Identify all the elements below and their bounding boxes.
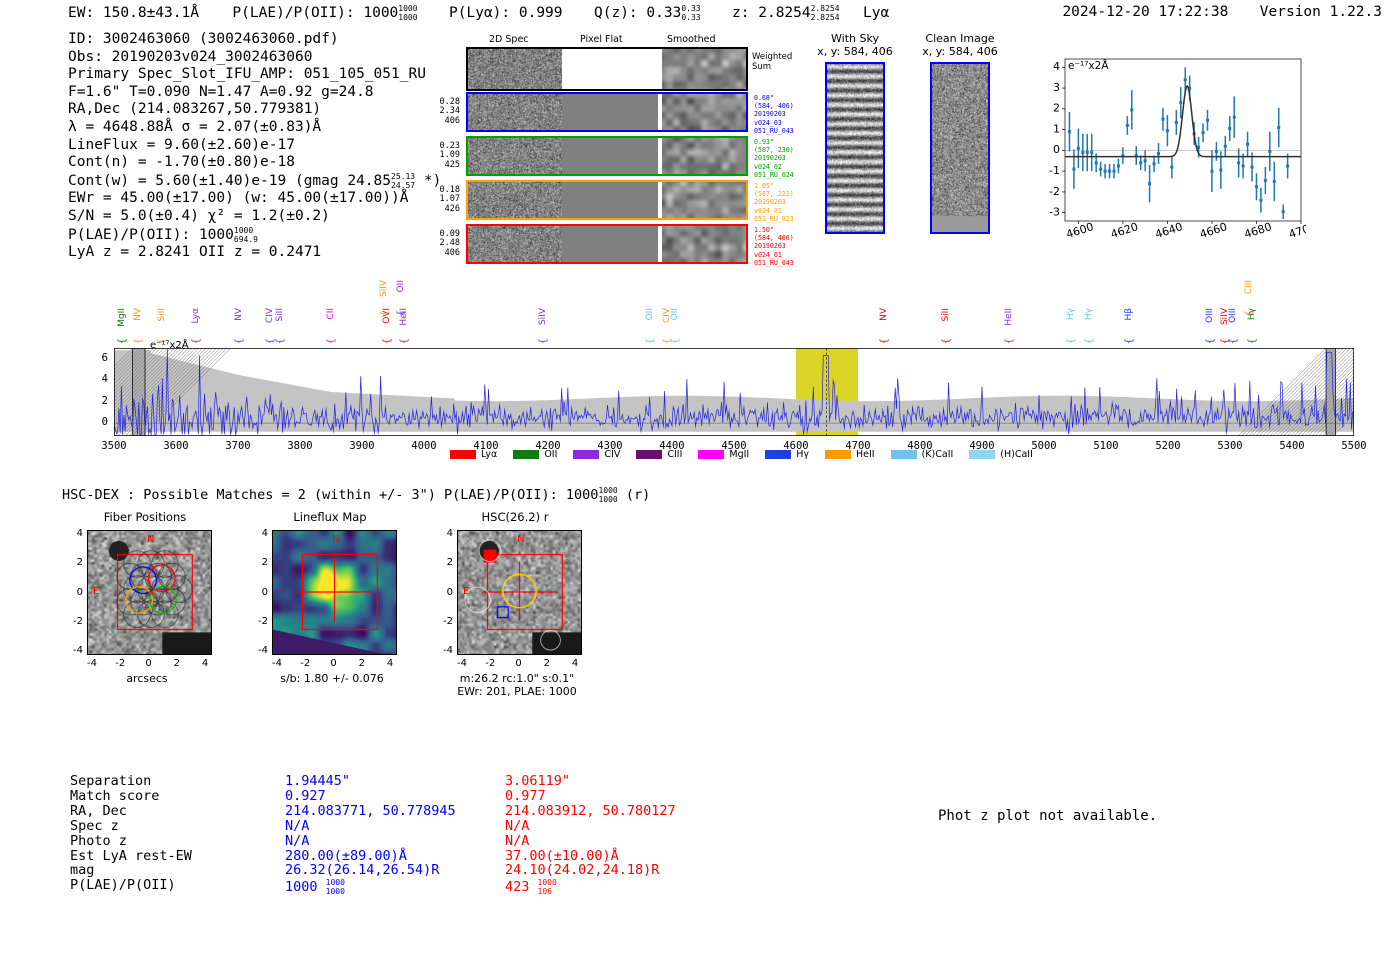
- strip-smoothed: [662, 226, 746, 262]
- spectrum-x-tick: 5300: [1213, 440, 1247, 452]
- match-row-label: Photo z: [70, 834, 127, 849]
- match-value: 214.083771, 50.778945: [285, 804, 456, 819]
- cutout-y-tick: 2: [435, 557, 453, 568]
- legend-label: MgII: [729, 449, 749, 460]
- spectrum-y-tick: 0: [80, 416, 108, 428]
- strip-weighted-sum-2dspec: [468, 49, 562, 89]
- emission-line-brace: {: [879, 338, 890, 344]
- match-value: 0.927: [285, 789, 326, 804]
- detection-info-block: ID: 3002463060 (3002463060.pdf) Obs: 201…: [68, 31, 441, 262]
- legend-swatch: [636, 450, 662, 459]
- cutout-x-tick: 4: [381, 658, 399, 669]
- header-line-id: Lyα: [863, 5, 889, 21]
- emission-line-label: NV: [234, 308, 244, 321]
- cutout-y-tick: -4: [435, 645, 453, 656]
- info-sn-chi2: S/N = 5.0(±0.4) χ² = 1.2(±0.2): [68, 208, 441, 226]
- strip-metric-value: 406: [430, 249, 460, 258]
- match-value: 1.94445": [285, 774, 350, 789]
- spectrum-y-tick: 4: [80, 373, 108, 385]
- emission-line-label: SiIV: [379, 280, 389, 297]
- with-sky-title: With Sky: [805, 32, 905, 45]
- emission-line-label: Lyα: [191, 308, 201, 323]
- cutout-x-tick: -2: [296, 658, 314, 669]
- cutout-image: [457, 530, 582, 655]
- legend-label: (H)CaII: [1000, 449, 1033, 460]
- weighted-sum-label: Weighted Sum: [752, 52, 792, 72]
- strip-info-line: 20190203: [754, 242, 814, 250]
- header-version: Version 1.22.3: [1260, 4, 1382, 20]
- header-plya: P(Lyα): 0.999: [449, 5, 563, 21]
- legend-item: OII: [513, 449, 557, 460]
- match-row-label: Separation: [70, 774, 151, 789]
- with-sky-coords: x, y: 584, 406: [805, 45, 905, 58]
- emission-line-label: OII: [396, 280, 406, 292]
- match-value: 3.06119": [505, 774, 570, 789]
- cutout-y-tick: 4: [65, 528, 83, 539]
- spectrum-x-tick: 3600: [159, 440, 193, 452]
- match-value: 24.10(24.02,24.18)R: [505, 863, 659, 878]
- strip-pixelflat: [562, 94, 658, 130]
- emission-line-brace: {: [234, 338, 245, 344]
- strip-2dspec: [468, 182, 562, 218]
- spectrum-x-tick: 3500: [97, 440, 131, 452]
- emission-line-brace: {: [379, 310, 390, 316]
- legend-swatch: [698, 450, 724, 459]
- cutout-hsc: HSC(26.2) rNE420-2-4-4-2024m:26.2 rc:1.0…: [435, 510, 615, 725]
- strip-info-line: 051_RU_043: [754, 259, 814, 267]
- spectrum-legend: LyαOIICIVCIIIMgIIHγHeII(K)CaII(H)CaII: [450, 444, 1049, 463]
- strip-info-line: (584, 406): [754, 234, 814, 242]
- info-plae-range: 1000694.9: [234, 226, 258, 244]
- legend-label: HeII: [856, 449, 875, 460]
- match-value: 214.083912, 50.780127: [505, 804, 676, 819]
- hscdex-title: HSC-DEX : Possible Matches = 2 (within +…: [62, 486, 650, 504]
- legend-item: CIV: [573, 449, 620, 460]
- info-wavelength: λ = 4648.88Å σ = 2.07(±0.83)Å: [68, 119, 441, 137]
- emission-line-label: SiII: [157, 308, 167, 322]
- match-row-label: P(LAE)/P(OII): [70, 878, 176, 893]
- emission-line-brace: {: [1205, 338, 1216, 344]
- info-cont-n: Cont(n) = -1.70(±0.80)e-18: [68, 154, 441, 172]
- header-timestamp: 2024-12-20 17:22:38: [1062, 4, 1228, 20]
- strip-title-smoothed: Smoothed: [667, 34, 716, 45]
- legend-swatch: [450, 450, 476, 459]
- emission-line-brace: {: [396, 310, 407, 316]
- cutout-y-tick: -4: [250, 645, 268, 656]
- info-plae: P(LAE)/P(OII): 10001000694.9: [68, 226, 441, 245]
- emission-line-brace: {: [1244, 310, 1255, 316]
- strip-metric-value: 425: [430, 161, 460, 170]
- cutout-y-tick: 4: [250, 528, 268, 539]
- emission-line-label: NV: [879, 308, 889, 321]
- header-plae-label: P(LAE)/P(OII): 1000: [232, 5, 398, 21]
- hscdex-plae-range: 10001000: [598, 486, 617, 504]
- strip-row-metrics: 0.181.07426: [430, 186, 460, 214]
- spectrum-x-tick: 5100: [1089, 440, 1123, 452]
- cutout-x-tick: 4: [196, 658, 214, 669]
- emission-line-brace: {: [941, 338, 952, 344]
- cutout-x-tick: 0: [325, 658, 343, 669]
- emission-line-label: CIII: [1244, 280, 1254, 294]
- emission-line-brace: {: [1247, 338, 1258, 344]
- cutout-x-tick: -4: [453, 658, 471, 669]
- strip-row-metrics: 0.231.09425: [430, 142, 460, 170]
- clean-image-title: Clean Image: [905, 32, 1015, 45]
- clean-image-coords: x, y: 584, 406: [905, 45, 1015, 58]
- cutout-x-tick: 4: [566, 658, 584, 669]
- cutout-y-tick: -2: [65, 616, 83, 627]
- spectrum-x-tick: 5200: [1151, 440, 1185, 452]
- strip-weighted-sum: [466, 47, 748, 91]
- emission-line-label: HeII: [1004, 308, 1014, 326]
- compass-east: E: [278, 586, 284, 597]
- legend-item: (K)CaII: [891, 449, 954, 460]
- strip-smoothed: [662, 182, 746, 218]
- strip-row: [466, 180, 748, 220]
- legend-label: CIII: [667, 449, 682, 460]
- info-redshifts: LyA z = 2.8241 OII z = 0.2471: [68, 244, 441, 262]
- spectrum-y-tick: 2: [80, 395, 108, 407]
- full-spectrum-plot: MgII{NV{SiII{Lyα{NV{CIV{SiII{CII{OVI{HeI…: [60, 278, 1360, 468]
- legend-label: (K)CaII: [922, 449, 954, 460]
- header-ew: EW: 150.8±43.1Å: [68, 5, 199, 21]
- cutout-y-tick: 2: [65, 557, 83, 568]
- strip-smoothed: [662, 138, 746, 174]
- info-radec: RA,Dec (214.083267,50.779381): [68, 101, 441, 119]
- strip-2dspec: [468, 94, 562, 130]
- legend-label: CIV: [604, 449, 620, 460]
- match-row-label: Match score: [70, 789, 159, 804]
- compass-north: N: [332, 534, 339, 545]
- photz-message: Phot z plot not available.: [938, 808, 1157, 824]
- legend-label: OII: [544, 449, 557, 460]
- legend-item: CIII: [636, 449, 682, 460]
- strip-row-metrics: 0.282.34406: [430, 98, 460, 126]
- cutout-x-tick: 0: [140, 658, 158, 669]
- legend-swatch: [969, 450, 995, 459]
- emission-line-brace: {: [399, 338, 410, 344]
- cutout-lineflux: Lineflux MapNE420-2-4-4-2024s/b: 1.80 +/…: [250, 510, 430, 725]
- spectrum-y-tick: 6: [80, 352, 108, 364]
- emission-line-label: SiII: [941, 308, 951, 322]
- cutout-x-tick: 2: [538, 658, 556, 669]
- cutout-title: Lineflux Map: [250, 510, 410, 524]
- header-qz: Q(z): 0.33: [594, 5, 681, 21]
- emission-line-label: SiII: [275, 308, 285, 322]
- match-value: N/A: [505, 819, 529, 834]
- legend-swatch: [891, 450, 917, 459]
- clean-image-canvas: [930, 62, 990, 234]
- match-plae-range: 1000106: [538, 878, 557, 896]
- cutout-image: [272, 530, 397, 655]
- strip-row: [466, 136, 748, 176]
- emission-line-label: CII: [326, 308, 336, 320]
- cutout-y-tick: 2: [250, 557, 268, 568]
- legend-swatch: [573, 450, 599, 459]
- info-obs: Obs: 20190203v024_3002463060: [68, 49, 441, 67]
- with-sky-image: [825, 62, 885, 234]
- match-value: 423 1000106: [505, 878, 557, 896]
- legend-item: HeII: [825, 449, 875, 460]
- cutout-x-tick: 0: [510, 658, 528, 669]
- sky-panel-with-sky: With Sky x, y: 584, 406: [805, 32, 905, 234]
- info-gmag-range: 25.1324.57: [391, 172, 415, 190]
- strip-pixelflat: [562, 182, 658, 218]
- legend-item: (H)CaII: [969, 449, 1033, 460]
- emission-line-brace: {: [1066, 338, 1077, 344]
- strip-title-pixelflat: Pixel Flat: [580, 34, 623, 45]
- emission-line-brace: {: [133, 338, 144, 344]
- emission-line-brace: {: [117, 338, 128, 344]
- emission-line-brace: {: [645, 338, 656, 344]
- match-plae-range: 10001000: [326, 878, 345, 896]
- spectrum-x-tick: 5400: [1275, 440, 1309, 452]
- emission-line-label: OII: [645, 308, 655, 320]
- emission-line-brace: {: [1124, 338, 1135, 344]
- cutout-x-tick: -4: [83, 658, 101, 669]
- legend-item: MgII: [698, 449, 749, 460]
- emission-line-label: Hγ: [1084, 308, 1094, 320]
- header-qz-range: 0.330.33: [681, 4, 700, 22]
- emission-line-label: SiIV: [538, 308, 548, 325]
- cutout-y-tick: 0: [250, 587, 268, 598]
- header-z: z: 2.8254: [732, 5, 811, 21]
- strip-info-line: v024_01: [754, 251, 814, 259]
- strip-metric-value: 426: [430, 205, 460, 214]
- cutout-fibers: Fiber PositionsNE420-2-4-4-2024arcsecs: [65, 510, 245, 725]
- strip-row: [466, 92, 748, 132]
- emission-line-brace: {: [382, 338, 393, 344]
- emission-line-brace: {: [1084, 338, 1095, 344]
- header-z-range: 2.82542.8254: [811, 4, 840, 22]
- cutout-subtitle-1: arcsecs: [57, 672, 237, 685]
- cutout-y-tick: -2: [250, 616, 268, 627]
- spectrum-x-tick: 4000: [407, 440, 441, 452]
- emission-line-label: Hβ: [1124, 308, 1134, 321]
- emission-line-label: Hγ: [1066, 308, 1076, 320]
- spectrum-x-tick: 3800: [283, 440, 317, 452]
- emission-line-label: NV: [133, 308, 143, 321]
- legend-item: Lyα: [450, 449, 497, 460]
- match-value: N/A: [285, 819, 309, 834]
- match-value: 26.32(26.14,26.54)R: [285, 863, 439, 878]
- cutout-y-tick: 4: [435, 528, 453, 539]
- spectrum-x-tick: 3900: [345, 440, 379, 452]
- legend-item: Hγ: [765, 449, 809, 460]
- strip-pixelflat: [562, 226, 658, 262]
- emission-line-brace: {: [326, 338, 337, 344]
- emission-line-brace: {: [538, 338, 549, 344]
- match-row-label: Spec z: [70, 819, 119, 834]
- emission-line-label: CIV: [265, 308, 275, 323]
- legend-swatch: [765, 450, 791, 459]
- match-value: N/A: [505, 834, 529, 849]
- strip-row-metrics: 0.092.48406: [430, 230, 460, 258]
- compass-east: E: [463, 586, 469, 597]
- cutout-subtitle-2: EWr: 201, PLAE: 1000: [427, 685, 607, 698]
- cutout-y-tick: 0: [65, 587, 83, 598]
- cutout-subtitle-1: m:26.2 rc:1.0" s:0.1": [427, 672, 607, 685]
- emission-line-label: OII: [670, 308, 680, 320]
- match-value: 0.977: [505, 789, 546, 804]
- header-summary-line: EW: 150.8±43.1Å P(LAE)/P(OII): 100010001…: [68, 4, 889, 22]
- emission-line-labels: MgII{NV{SiII{Lyα{NV{CIV{SiII{CII{OVI{HeI…: [60, 278, 1360, 350]
- compass-north: N: [517, 534, 524, 545]
- info-lineflux: LineFlux = 9.60(±2.60)e-17: [68, 137, 441, 155]
- cutout-x-tick: -2: [111, 658, 129, 669]
- full-spectrum-units: e⁻¹⁷x2Å: [150, 340, 189, 351]
- line-zoom-plot: [1036, 50, 1306, 245]
- match-value: 1000 10001000: [285, 878, 345, 896]
- spectrum-x-tick: 5500: [1337, 440, 1371, 452]
- legend-label: Lyα: [481, 449, 497, 460]
- strip-weighted-sum-pixelflat: [562, 49, 658, 89]
- info-seeing-params: F=1.6" T=0.090 N=1.47 A=0.92 g=24.8: [68, 84, 441, 102]
- info-spec-slot: Primary Spec_Slot_IFU_AMP: 051_105_051_R…: [68, 66, 441, 84]
- cutout-title: HSC(26.2) r: [435, 510, 595, 524]
- legend-label: Hγ: [796, 449, 809, 460]
- header-timestamp-block: 2024-12-20 17:22:38 Version 1.22.3: [1062, 4, 1382, 20]
- compass-east: E: [93, 586, 99, 597]
- strip-metric-value: 406: [430, 117, 460, 126]
- sky-panel-clean: Clean Image x, y: 584, 406: [905, 32, 1015, 234]
- emission-line-brace: {: [275, 338, 286, 344]
- header-plae-range: 10001000: [398, 4, 417, 22]
- info-ewr: EWr = 45.00(±17.00) (w: 45.00(±17.00))Å: [68, 190, 441, 208]
- strip-row: [466, 224, 748, 264]
- strip-pixelflat: [562, 138, 658, 174]
- cutout-x-tick: 2: [353, 658, 371, 669]
- strip-2dspec: [468, 138, 562, 174]
- cutout-y-tick: -4: [65, 645, 83, 656]
- legend-swatch: [825, 450, 851, 459]
- strip-smoothed: [662, 94, 746, 130]
- strip-title-2dspec: 2D Spec: [489, 34, 529, 45]
- cutout-panels: Fiber PositionsNE420-2-4-4-2024arcsecsLi…: [55, 510, 675, 725]
- cutout-title: Fiber Positions: [65, 510, 225, 524]
- match-value: N/A: [285, 834, 309, 849]
- match-row-label: RA, Dec: [70, 804, 127, 819]
- cutout-x-tick: -2: [481, 658, 499, 669]
- info-cont-w: Cont(w) = 5.60(±1.40)e-19 (gmag 24.8525.…: [68, 172, 441, 191]
- cutout-x-tick: 2: [168, 658, 186, 669]
- emission-line-brace: {: [191, 338, 202, 344]
- legend-swatch: [513, 450, 539, 459]
- emission-line-label: OIII: [1228, 308, 1238, 323]
- emission-line-brace: {: [1004, 338, 1015, 344]
- emission-line-label: OIII: [1205, 308, 1215, 323]
- emission-line-brace: {: [1228, 338, 1239, 344]
- cutout-x-tick: -4: [268, 658, 286, 669]
- emission-line-label: MgII: [117, 308, 127, 327]
- strip-2dspec: [468, 226, 562, 262]
- emission-line-brace: {: [670, 338, 681, 344]
- cutout-y-tick: -2: [435, 616, 453, 627]
- strip-weighted-sum-smoothed: [662, 49, 746, 89]
- match-value: 280.00(±89.00)Å: [285, 849, 407, 864]
- spectrum-x-tick: 3700: [221, 440, 255, 452]
- match-table: SeparationMatch scoreRA, DecSpec zPhoto …: [70, 774, 770, 899]
- cutout-subtitle-1: s/b: 1.80 +/- 0.076: [242, 672, 422, 685]
- cutout-image: [87, 530, 212, 655]
- match-row-label: mag: [70, 863, 94, 878]
- cutout-y-tick: 0: [435, 587, 453, 598]
- compass-north: N: [147, 534, 154, 545]
- info-id: ID: 3002463060 (3002463060.pdf): [68, 31, 441, 49]
- match-row-label: Est LyA rest-EW: [70, 849, 192, 864]
- match-value: 37.00(±10.00)Å: [505, 849, 619, 864]
